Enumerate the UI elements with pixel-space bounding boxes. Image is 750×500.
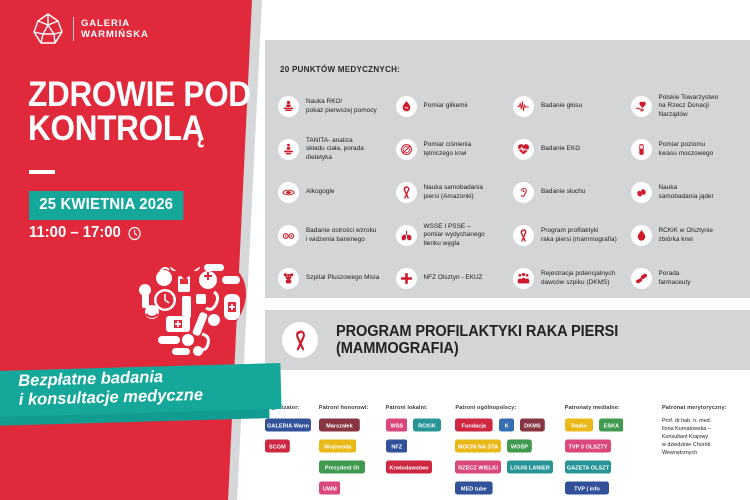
partner-column: Patronat merytoryczny:Prof. dr hab. n. m… xyxy=(662,400,750,500)
brand-logo[interactable]: GALERIA WARMIŃSKA xyxy=(30,12,149,46)
body-scale-icon xyxy=(278,139,299,160)
svg-text:Krwiodawstwo: Krwiodawstwo xyxy=(389,466,429,472)
logo-dkms[interactable]: DKMS xyxy=(520,417,545,433)
partner-column: Patroni honorowi: Marszałek Wojewoda Pre… xyxy=(319,400,386,500)
logo-wss-olsztyn[interactable]: WSS xyxy=(386,417,408,433)
medical-point-label: RCKiK w Olsztyniezbiórka krwi xyxy=(659,227,713,244)
svg-text:RZECZ WIELKI: RZECZ WIELKI xyxy=(458,466,498,472)
svg-text:WSS: WSS xyxy=(390,424,403,430)
partner-column-heading: Patronat merytoryczny: xyxy=(662,405,746,411)
galeria-warminska-crystal-icon xyxy=(30,12,66,46)
partner-column: Patroni ogólnopolscy: Fundacja K DKMS MO… xyxy=(455,400,564,500)
logo-nfz[interactable]: NFZ xyxy=(386,438,408,454)
medical-point-item[interactable]: Poradafarmaceuty xyxy=(631,257,749,300)
event-hours: 11:00 – 17:00 xyxy=(29,224,141,242)
heart-ecg-icon xyxy=(513,139,534,160)
medical-point-label: Nauka RKO/pokaz pierwszej pomocy xyxy=(306,98,377,115)
medical-point-item[interactable]: Naukasamobadania jąder xyxy=(631,171,749,214)
medical-point-label: Pomiar glikemii xyxy=(424,102,468,110)
medical-point-label: Badanie głosu xyxy=(541,102,582,110)
partner-column-heading: Patroni honorowi: xyxy=(319,405,382,411)
test-tube-icon xyxy=(631,139,652,160)
logo-uwm-olsztyn[interactable]: UWM xyxy=(319,480,341,496)
svg-text:LOUIS LANIER: LOUIS LANIER xyxy=(511,466,550,472)
pills-icon xyxy=(631,268,652,289)
medical-point-item[interactable]: Nauka samobadaniapiersi (Amazonki) xyxy=(396,171,514,214)
logo-tvp3-olsztyn[interactable]: TVP 3 OLSZTY xyxy=(565,438,611,454)
logo-fundacja[interactable]: Fundacja xyxy=(455,417,493,433)
logo-medtube[interactable]: MED tube xyxy=(455,480,493,496)
partner-column: Organizator: GALERIA Warm SCGM xyxy=(265,400,319,500)
svg-text:TVP 3 OLSZTY: TVP 3 OLSZTY xyxy=(568,445,607,451)
clock-icon xyxy=(127,226,141,241)
blood-drop-icon xyxy=(631,225,652,246)
medical-point-item[interactable]: TANITA- analizaskładu ciała, poradadiete… xyxy=(278,128,396,171)
logo-line-2: WARMIŃSKA xyxy=(81,29,149,40)
medical-point-label: Nauka samobadaniapiersi (Amazonki) xyxy=(424,184,483,201)
medical-point-label: Badanie słuchu xyxy=(541,188,585,196)
event-hours-text: 11:00 – 17:00 xyxy=(29,224,121,242)
medical-point-item[interactable]: WSSE I PSSE –pomiar wydychanegotlenku wę… xyxy=(396,214,514,257)
medical-point-item[interactable]: RCKiK w Olsztyniezbiórka krwi xyxy=(631,214,749,257)
logo-wosp[interactable]: WOŚP xyxy=(507,438,532,454)
svg-text:ESKA: ESKA xyxy=(603,424,619,430)
logo-mocni-na-starcie[interactable]: MOCNI NA STA xyxy=(455,438,501,454)
headline-line-2: KONTROLĄ xyxy=(28,112,251,146)
logo-kids[interactable]: K xyxy=(499,417,514,433)
logo-radio-olsztyn[interactable]: Radio xyxy=(565,417,593,433)
medical-point-label: Pomiar poziomukwasu moczowego xyxy=(659,141,714,158)
heart-of-medical-icons xyxy=(118,248,252,370)
svg-text:GAZETA OLSZT: GAZETA OLSZT xyxy=(566,466,609,472)
medical-point-item[interactable]: Badanie EKG xyxy=(513,128,631,171)
blood-pressure-gauge-icon xyxy=(396,139,417,160)
svg-text:RCKiK: RCKiK xyxy=(418,424,436,430)
poster-root: GALERIA WARMIŃSKA ZDROWIE POD KONTROLĄ 2… xyxy=(0,0,750,500)
expert-patron-text: Prof. dr hab. n. med.Ilona Kurnatowska –… xyxy=(662,417,746,458)
medical-point-label: Polskie Towarzystwona Rzecz DonacjiNarzą… xyxy=(659,94,719,119)
medical-point-label: NFZ Olsztyn - EKUZ xyxy=(424,274,483,282)
medical-point-label: Szpital Pluszowego Misia xyxy=(306,274,379,282)
medical-point-item[interactable]: Badanie ostrości wzrokui widzenia barwne… xyxy=(278,214,396,257)
svg-text:DKMS: DKMS xyxy=(524,424,541,430)
logo-wojewoda-warminsko-mazurski[interactable]: Wojewoda xyxy=(319,438,357,454)
medical-point-item[interactable]: NFZ Olsztyn - EKUZ xyxy=(396,257,514,300)
logo-scgm[interactable]: SCGM xyxy=(265,438,290,454)
event-date-badge: 25 KWIETNIA 2026 xyxy=(29,191,183,220)
medical-point-label: Pomiar ciśnieniatętniczego krwi xyxy=(424,141,472,158)
medical-point-label: Program profilaktykiraka piersi (mammogr… xyxy=(541,227,617,244)
ear-hearing-icon xyxy=(513,182,534,203)
svg-text:K: K xyxy=(504,424,508,430)
logo-divider xyxy=(73,17,74,41)
partner-logo-row: Fundacja K DKMS MOCNI NA STA WOŚP R xyxy=(455,417,560,496)
medical-point-item[interactable]: Pomiar poziomukwasu moczowego xyxy=(631,128,749,171)
logo-eska[interactable]: ESKA xyxy=(599,417,624,433)
people-group-icon xyxy=(513,268,534,289)
svg-text:NFZ: NFZ xyxy=(391,445,402,451)
pink-ribbon-icon xyxy=(282,322,318,358)
testicular-self-exam-icon xyxy=(631,182,652,203)
logo-line-1: GALERIA xyxy=(81,18,149,29)
voice-waveform-icon xyxy=(513,96,534,117)
partner-logo-row: Marszałek Wojewoda Prezydent Ol UWM xyxy=(319,417,382,496)
logo-marszalek-warminsko-mazurski[interactable]: Marszałek xyxy=(319,417,360,433)
cpr-manikin-icon xyxy=(278,96,299,117)
medical-points-grid: Nauka RKO/pokaz pierwszej pomocyPomiar g… xyxy=(278,85,748,300)
logo-krwiodawstwo[interactable]: Krwiodawstwo xyxy=(386,459,432,475)
logo-louis-lanier[interactable]: LOUIS LANIER xyxy=(507,459,553,475)
headline-rule xyxy=(29,170,55,174)
svg-text:MED tube: MED tube xyxy=(461,487,487,493)
medical-point-item[interactable]: Polskie Towarzystwona Rzecz DonacjiNarzą… xyxy=(631,85,749,128)
svg-text:WOŚP: WOŚP xyxy=(511,444,528,451)
medical-points-title: 20 PUNKTÓW MEDYCZNYCH: xyxy=(280,64,400,74)
logo-rckik-olsztyn[interactable]: RCKiK xyxy=(413,417,441,433)
medical-point-item[interactable]: Pomiar glikemii xyxy=(396,85,514,128)
medical-point-item[interactable]: Pomiar ciśnieniatętniczego krwi xyxy=(396,128,514,171)
medical-point-label: WSSE I PSSE –pomiar wydychanegotlenku wę… xyxy=(424,223,485,248)
logo-rzecz-wielkiej-wagi[interactable]: RZECZ WIELKI xyxy=(455,459,501,475)
svg-text:SCGM: SCGM xyxy=(269,445,286,451)
medical-point-item[interactable]: Badanie słuchu xyxy=(513,171,631,214)
logo-galeria-warminska[interactable]: GALERIA Warm xyxy=(265,417,311,433)
logo-wordmark: GALERIA WARMIŃSKA xyxy=(81,18,149,40)
medical-point-item[interactable]: Nauka RKO/pokaz pierwszej pomocy xyxy=(278,85,396,128)
svg-text:Prezydent Ol: Prezydent Ol xyxy=(325,466,360,472)
mammography-title-line-2: (MAMMOGRAFIA) xyxy=(336,340,618,357)
medical-point-label: TANITA- analizaskładu ciała, poradadiete… xyxy=(306,137,364,162)
mammography-title-line-1: PROGRAM PROFILAKTYKI RAKA PIERSI xyxy=(336,323,618,340)
svg-text:GALERIA Warm: GALERIA Warm xyxy=(267,424,309,430)
headline-line-1: ZDROWIE POD xyxy=(28,78,251,112)
organ-donation-hand-icon xyxy=(631,96,652,117)
medical-point-item[interactable]: Program profilaktykiraka piersi (mammogr… xyxy=(513,214,631,257)
teddy-bear-icon xyxy=(278,268,299,289)
poster-headline: ZDROWIE POD KONTROLĄ xyxy=(28,78,251,145)
medical-point-label: Badanie EKG xyxy=(541,145,580,153)
partner-column: Patroni lokalni: WSS RCKiK NFZ Krwiodaws… xyxy=(386,400,456,500)
medical-point-item[interactable]: Szpital Pluszowego Misia xyxy=(278,257,396,300)
teal-ribbon-text: Bezpłatne badania i konsultacje medyczne xyxy=(18,365,281,410)
partner-column-heading: Patroni ogólnopolscy: xyxy=(455,405,560,411)
blood-drop-hand-icon xyxy=(396,96,417,117)
medical-point-label: Poradafarmaceuty xyxy=(659,270,691,287)
logo-prezydent-olsztyna[interactable]: Prezydent Ol xyxy=(319,459,365,475)
svg-text:Radio: Radio xyxy=(571,424,587,430)
medical-point-label: Naukasamobadania jąder xyxy=(659,184,714,201)
alcohol-goggles-icon xyxy=(278,182,299,203)
medical-point-label: Badanie ostrości wzrokui widzenia barwne… xyxy=(306,227,376,244)
logo-gazeta-olsztynska[interactable]: GAZETA OLSZT xyxy=(565,459,611,475)
medical-points-panel: 20 PUNKTÓW MEDYCZNYCH: Nauka RKO/pokaz p… xyxy=(265,40,750,298)
medical-point-label: Alkogogle xyxy=(306,188,335,196)
logo-tvp-info[interactable]: TVP | info xyxy=(565,480,609,496)
partner-column-heading: Patronaty medialne: xyxy=(565,405,658,411)
svg-text:MOCNI NA STA: MOCNI NA STA xyxy=(458,445,498,451)
svg-text:UWM: UWM xyxy=(323,487,337,493)
partners-strip: Organizator: GALERIA Warm SCGM Patroni h… xyxy=(265,400,750,500)
partner-logo-row: WSS RCKiK NFZ Krwiodawstwo xyxy=(386,417,452,475)
svg-text:TVP | info: TVP | info xyxy=(574,487,600,493)
partner-logo-row: Radio ESKA TVP 3 OLSZTY GAZETA OLSZT TVP… xyxy=(565,417,658,496)
mammography-title: PROGRAM PROFILAKTYKI RAKA PIERSI (MAMMOG… xyxy=(336,323,618,358)
medical-cross-icon xyxy=(396,268,417,289)
svg-text:Fundacja: Fundacja xyxy=(462,424,487,430)
svg-text:Wojewoda: Wojewoda xyxy=(324,445,352,451)
medical-point-item[interactable]: Alkogogle xyxy=(278,171,396,214)
pink-ribbon-icon xyxy=(513,225,534,246)
partner-column-heading: Patroni lokalni: xyxy=(386,405,452,411)
eyeglasses-icon xyxy=(278,225,299,246)
partner-column: Patronaty medialne: Radio ESKA TVP 3 OLS… xyxy=(565,400,662,500)
lungs-icon xyxy=(396,225,417,246)
medical-point-label: Rejestracja potencjalnychdawców szpiku (… xyxy=(541,270,615,287)
mammography-banner: PROGRAM PROFILAKTYKI RAKA PIERSI (MAMMOG… xyxy=(265,310,750,370)
pink-ribbon-icon xyxy=(396,182,417,203)
medical-point-item[interactable]: Rejestracja potencjalnychdawców szpiku (… xyxy=(513,257,631,300)
medical-point-item[interactable]: Badanie głosu xyxy=(513,85,631,128)
svg-text:Marszałek: Marszałek xyxy=(326,424,354,430)
partner-logo-row: GALERIA Warm SCGM xyxy=(265,417,315,454)
